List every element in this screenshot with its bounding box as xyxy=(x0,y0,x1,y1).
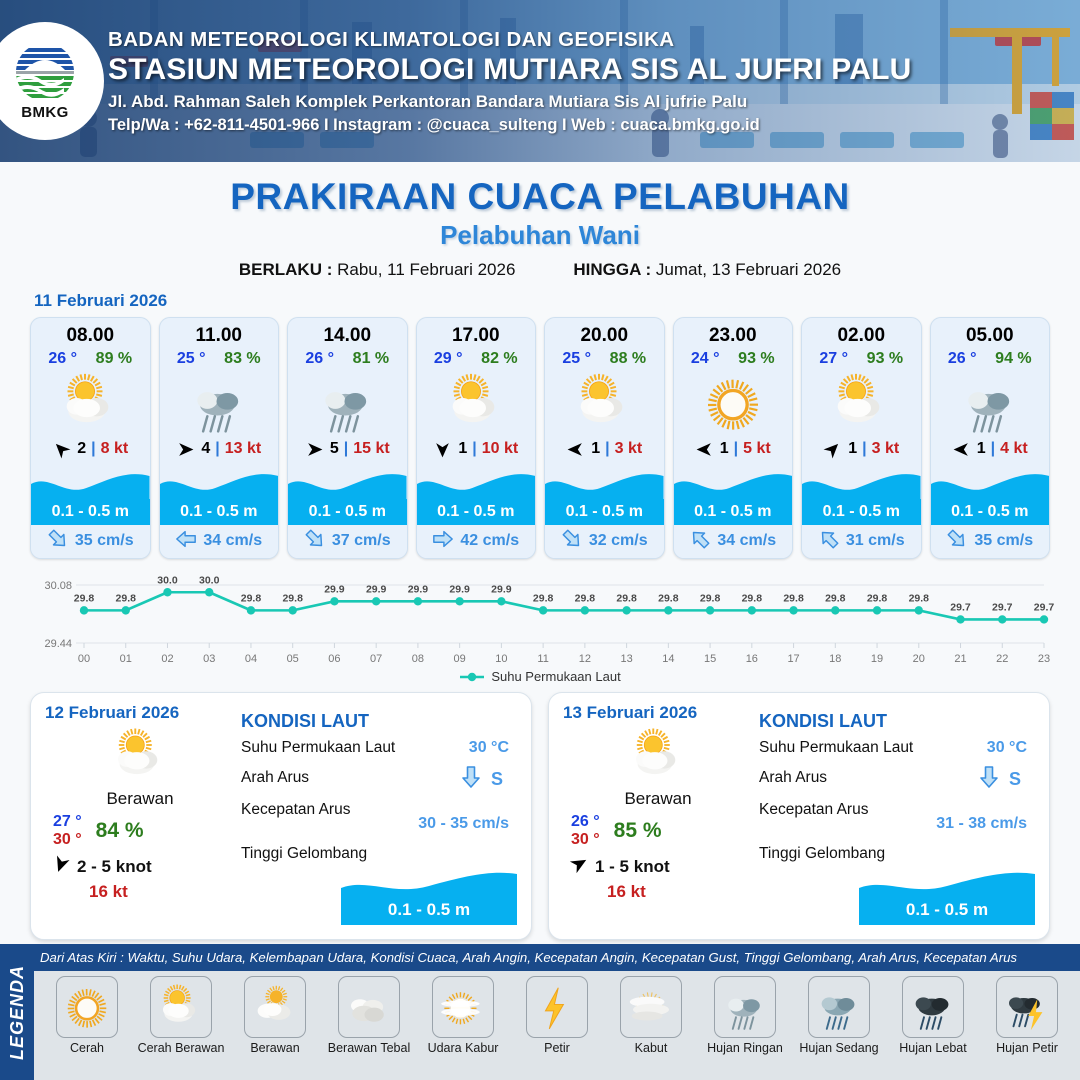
wind-row: 1 | 10 kt xyxy=(417,440,536,458)
legend-icon-box xyxy=(432,976,494,1038)
humidity: 88 % xyxy=(610,350,646,368)
wind-gust: 10 kt xyxy=(482,440,518,458)
svg-text:29.7: 29.7 xyxy=(992,601,1013,613)
svg-text:29.9: 29.9 xyxy=(366,583,387,595)
hourly-forecast-card: 11.00 25 ° 83 % 4 | 13 kt 0.1 - 0.5 m xyxy=(159,317,280,559)
current-direction-icon xyxy=(304,528,326,555)
legend-icon-box xyxy=(244,976,306,1038)
wind-direction-icon xyxy=(433,440,453,458)
wave-height-band: 0.1 - 0.5 m xyxy=(802,499,921,525)
svg-text:29.8: 29.8 xyxy=(700,592,721,604)
wind-row: 1 | 3 kt xyxy=(545,440,664,458)
daily-wind-gust: 16 kt xyxy=(563,882,753,902)
svg-text:29.8: 29.8 xyxy=(783,592,804,604)
forecast-time: 05.00 xyxy=(931,325,1050,347)
wind-direction-arrow-icon xyxy=(305,440,324,459)
legend-item: Hujan Sedang xyxy=(792,976,886,1055)
daily-weather-icon xyxy=(45,725,235,787)
wind-row: 1 | 5 kt xyxy=(674,440,793,458)
svg-text:29.8: 29.8 xyxy=(867,592,888,604)
current-row: 34 cm/s xyxy=(160,524,279,558)
wind-separator: | xyxy=(344,440,348,458)
wave-height: 0.1 - 0.5 m xyxy=(180,503,257,521)
svg-text:07: 07 xyxy=(370,653,382,665)
svg-text:30.0: 30.0 xyxy=(157,574,178,586)
wind-direction-icon xyxy=(566,440,586,458)
current-row: 35 cm/s xyxy=(931,524,1050,558)
temp-humidity-row: 24 ° 93 % xyxy=(674,350,793,368)
wind-speed: 1 xyxy=(720,440,729,458)
daily-left-column: 12 Februari 2026 Berawan 27 ° 30 ° 84 % … xyxy=(45,703,235,929)
humidity: 83 % xyxy=(224,350,260,368)
current-row: 35 cm/s xyxy=(31,524,150,558)
weather-condition-icon xyxy=(417,370,536,436)
svg-text:21: 21 xyxy=(954,653,966,665)
weather-icon-sunny xyxy=(60,980,114,1034)
wind-separator: | xyxy=(991,440,995,458)
legend-icon-box xyxy=(526,976,588,1038)
svg-text:16: 16 xyxy=(746,653,758,665)
legend-icon-box xyxy=(714,976,776,1038)
wind-separator: | xyxy=(734,440,738,458)
legend-item-label: Udara Kabur xyxy=(428,1041,499,1055)
wind-speed: 1 xyxy=(977,440,986,458)
air-temperature: 27 ° xyxy=(819,350,848,368)
svg-text:29.8: 29.8 xyxy=(74,592,95,604)
wave-height-row: Tinggi Gelombang xyxy=(241,845,517,863)
forecast-time: 08.00 xyxy=(31,325,150,347)
legend-item-label: Hujan Sedang xyxy=(799,1041,878,1055)
temp-humidity-row: 25 ° 83 % xyxy=(160,350,279,368)
current-row: 34 cm/s xyxy=(674,524,793,558)
current-direction-icon xyxy=(818,528,840,555)
forecast-time: 20.00 xyxy=(545,325,664,347)
legend-item: Cerah xyxy=(40,976,134,1055)
wind-gust: 5 kt xyxy=(743,440,771,458)
wind-separator: | xyxy=(215,440,219,458)
svg-text:29.44: 29.44 xyxy=(44,638,72,650)
current-direction-value-group: S xyxy=(977,765,1021,794)
svg-text:23: 23 xyxy=(1038,653,1050,665)
legend-item-label: Hujan Ringan xyxy=(707,1041,783,1055)
temp-humidity-row: 26 ° 89 % xyxy=(31,350,150,368)
agency-name: BADAN METEOROLOGI KLIMATOLOGI DAN GEOFIS… xyxy=(108,28,911,52)
temp-humidity-row: 29 ° 82 % xyxy=(417,350,536,368)
legend-item-label: Berawan Tebal xyxy=(328,1041,410,1055)
wind-direction-icon xyxy=(176,440,196,458)
air-temperature: 24 ° xyxy=(691,350,720,368)
legend-icon-box xyxy=(150,976,212,1038)
valid-from-value: Rabu, 11 Februari 2026 xyxy=(337,260,515,279)
weather-icon-rain-moderate xyxy=(812,980,866,1034)
current-direction-south-icon xyxy=(977,765,1001,794)
current-direction-label: Arah Arus xyxy=(759,769,827,787)
weather-icon-rain-light xyxy=(718,980,772,1034)
wave-height-block: 0.1 - 0.5 m xyxy=(31,470,150,524)
weather-condition-icon xyxy=(931,370,1050,436)
svg-text:06: 06 xyxy=(328,653,340,665)
wind-direction-arrow-icon xyxy=(569,854,589,874)
weather-condition-icon xyxy=(674,370,793,436)
bmkg-logo-icon xyxy=(12,41,78,103)
daily-humidity: 85 % xyxy=(614,819,662,843)
current-direction-arrow-icon xyxy=(689,528,711,550)
current-speed: 32 cm/s xyxy=(589,532,648,550)
wind-separator: | xyxy=(472,440,476,458)
legend-icon-box xyxy=(620,976,682,1038)
svg-text:30.08: 30.08 xyxy=(44,580,72,592)
svg-text:29.9: 29.9 xyxy=(408,583,429,595)
daily-forecast-panels: 12 Februari 2026 Berawan 27 ° 30 ° 84 % … xyxy=(0,684,1080,940)
svg-text:29.8: 29.8 xyxy=(241,592,262,604)
current-speed: 37 cm/s xyxy=(332,532,391,550)
sst-label: Suhu Permukaan Laut xyxy=(759,739,913,757)
wave-height-row: Tinggi Gelombang xyxy=(759,845,1035,863)
daily-forecast-panel: 13 Februari 2026 Berawan 26 ° 30 ° 85 % … xyxy=(548,692,1050,940)
legend-icon-box xyxy=(902,976,964,1038)
daily-wave-band: 0.1 - 0.5 m xyxy=(341,895,517,925)
svg-text:14: 14 xyxy=(662,653,674,665)
daily-date: 13 Februari 2026 xyxy=(563,703,753,723)
humidity: 93 % xyxy=(738,350,774,368)
weather-icon-thunderstorm xyxy=(1000,980,1054,1034)
svg-text:05: 05 xyxy=(287,653,299,665)
wave-height-band: 0.1 - 0.5 m xyxy=(931,499,1050,525)
current-direction-icon xyxy=(432,528,454,555)
wind-separator: | xyxy=(862,440,866,458)
current-speed-label: Kecepatan Arus xyxy=(759,801,868,819)
legend-item-label: Cerah Berawan xyxy=(138,1041,225,1055)
current-direction-arrow-icon xyxy=(175,528,197,550)
temp-humidity-row: 26 ° 81 % xyxy=(288,350,407,368)
wind-gust: 4 kt xyxy=(1000,440,1028,458)
wind-direction-arrow-icon xyxy=(823,440,842,459)
svg-text:13: 13 xyxy=(620,653,632,665)
current-row: 31 cm/s xyxy=(802,524,921,558)
wind-direction-arrow-icon xyxy=(566,440,585,459)
weather-icon-haze xyxy=(436,980,490,1034)
air-temperature: 29 ° xyxy=(434,350,463,368)
weather-icon-rain-light xyxy=(184,368,254,438)
daily-wave-block: 0.1 - 0.5 m xyxy=(341,870,517,925)
air-temperature: 25 ° xyxy=(177,350,206,368)
wind-speed: 1 xyxy=(848,440,857,458)
svg-text:02: 02 xyxy=(161,653,173,665)
station-contact: Telp/Wa : +62-811-4501-966 I Instagram :… xyxy=(108,116,911,135)
svg-text:10: 10 xyxy=(495,653,507,665)
weather-icon-lightning xyxy=(530,980,584,1034)
wave-height-label: Tinggi Gelombang xyxy=(759,845,885,863)
daily-temp-column: 27 ° 30 ° xyxy=(53,813,82,849)
legend-icon-box xyxy=(338,976,400,1038)
weather-condition-icon xyxy=(545,370,664,436)
svg-text:29.8: 29.8 xyxy=(282,592,303,604)
valid-to-value: Jumat, 13 Februari 2026 xyxy=(656,260,841,279)
current-direction-arrow-icon xyxy=(561,528,583,550)
wave-shape xyxy=(802,470,921,500)
svg-text:29.8: 29.8 xyxy=(116,592,137,604)
wave-height-band: 0.1 - 0.5 m xyxy=(288,499,407,525)
sst-chart: 30.0829.44000102030405060708091011121314… xyxy=(22,565,1058,673)
sea-condition-column: KONDISI LAUT Suhu Permukaan Laut 30 °C A… xyxy=(235,703,517,929)
legend-item: Hujan Petir xyxy=(980,976,1074,1055)
hourly-date-label: 11 Februari 2026 xyxy=(34,291,1080,311)
valid-from-label: BERLAKU : xyxy=(239,260,333,279)
valid-to-label: HINGGA : xyxy=(573,260,651,279)
wind-speed: 1 xyxy=(591,440,600,458)
forecast-time: 11.00 xyxy=(160,325,279,347)
svg-text:29.8: 29.8 xyxy=(616,592,637,604)
current-speed: 42 cm/s xyxy=(460,532,519,550)
wind-direction-icon xyxy=(823,440,843,458)
wind-direction-icon xyxy=(952,440,972,458)
air-temperature: 26 ° xyxy=(305,350,334,368)
wave-shape xyxy=(931,470,1050,500)
current-direction-label: Arah Arus xyxy=(241,769,309,787)
wave-height-label: Tinggi Gelombang xyxy=(241,845,367,863)
svg-text:18: 18 xyxy=(829,653,841,665)
wind-row: 2 | 8 kt xyxy=(31,440,150,458)
svg-text:29.7: 29.7 xyxy=(1034,601,1055,613)
daily-temp-humidity: 27 ° 30 ° 84 % xyxy=(45,813,235,849)
wave-height: 0.1 - 0.5 m xyxy=(823,503,900,521)
legend-icon-list: Cerah Cerah Berawan Berawan Berawan Teba… xyxy=(34,971,1080,1080)
forecast-time: 23.00 xyxy=(674,325,793,347)
svg-text:08: 08 xyxy=(412,653,424,665)
validity-row: BERLAKU : Rabu, 11 Februari 2026 HINGGA … xyxy=(0,260,1080,280)
wind-direction-arrow-icon xyxy=(52,440,71,459)
forecast-time: 02.00 xyxy=(802,325,921,347)
weather-icon-cloudy xyxy=(248,980,302,1034)
legend-item: Berawan Tebal xyxy=(322,976,416,1055)
svg-text:29.8: 29.8 xyxy=(658,592,679,604)
legend-item-label: Cerah xyxy=(70,1041,104,1055)
weather-icon-partly-cloudy xyxy=(625,723,691,789)
daily-temp-min: 27 ° xyxy=(53,813,82,831)
daily-temp-max: 30 ° xyxy=(571,831,600,849)
humidity: 94 % xyxy=(995,350,1031,368)
svg-text:30.0: 30.0 xyxy=(199,574,220,586)
weather-icon-partly-cloudy xyxy=(107,723,173,789)
forecast-time: 14.00 xyxy=(288,325,407,347)
wind-row: 1 | 3 kt xyxy=(802,440,921,458)
daily-wind-gust: 16 kt xyxy=(45,882,235,902)
current-direction-value-group: S xyxy=(459,765,503,794)
weather-icon-rain-light xyxy=(955,368,1025,438)
current-direction-south-icon xyxy=(459,765,483,794)
svg-text:29.8: 29.8 xyxy=(825,592,846,604)
daily-wind-direction-icon xyxy=(51,854,71,879)
hourly-forecast-card: 02.00 27 ° 93 % 1 | 3 kt 0.1 - 0.5 m xyxy=(801,317,922,559)
wave-height-block: 0.1 - 0.5 m xyxy=(417,470,536,524)
wind-row: 5 | 15 kt xyxy=(288,440,407,458)
svg-text:29.8: 29.8 xyxy=(742,592,763,604)
weather-icon-fog xyxy=(624,980,678,1034)
wind-direction-icon xyxy=(695,440,715,458)
svg-text:29.8: 29.8 xyxy=(909,592,930,604)
wave-shape xyxy=(31,470,150,500)
wind-gust: 3 kt xyxy=(615,440,643,458)
weather-icon-sunny xyxy=(698,368,768,438)
weather-icon-partly-cloudy xyxy=(826,368,896,438)
wave-height-block: 0.1 - 0.5 m xyxy=(674,470,793,524)
humidity: 81 % xyxy=(353,350,389,368)
daily-wave-shape xyxy=(341,870,517,896)
wind-speed: 4 xyxy=(201,440,210,458)
forecast-time: 17.00 xyxy=(417,325,536,347)
current-row: 32 cm/s xyxy=(545,524,664,558)
temp-humidity-row: 26 ° 94 % xyxy=(931,350,1050,368)
legend-item: Kabut xyxy=(604,976,698,1055)
wave-height: 0.1 - 0.5 m xyxy=(694,503,771,521)
wind-direction-icon xyxy=(305,440,325,458)
svg-text:11: 11 xyxy=(537,653,548,665)
humidity: 89 % xyxy=(96,350,132,368)
daily-wave-shape xyxy=(859,870,1035,896)
current-row: 42 cm/s xyxy=(417,524,536,558)
weather-condition-icon xyxy=(160,370,279,436)
hourly-forecast-card: 05.00 26 ° 94 % 1 | 4 kt 0.1 - 0.5 m xyxy=(930,317,1051,559)
daily-weather-icon xyxy=(563,725,753,787)
wind-direction-arrow-icon xyxy=(952,440,971,459)
weather-condition-icon xyxy=(802,370,921,436)
temp-humidity-row: 25 ° 88 % xyxy=(545,350,664,368)
current-direction-arrow-icon xyxy=(977,765,1001,789)
sea-condition-title: KONDISI LAUT xyxy=(241,711,517,732)
hourly-forecast-card: 20.00 25 ° 88 % 1 | 3 kt 0.1 - 0.5 m xyxy=(544,317,665,559)
svg-text:15: 15 xyxy=(704,653,716,665)
banner-text-block: BADAN METEOROLOGI KLIMATOLOGI DAN GEOFIS… xyxy=(108,28,911,135)
hourly-forecast-card: 08.00 26 ° 89 % 2 | 8 kt 0.1 - 0.5 m xyxy=(30,317,151,559)
wave-height-block: 0.1 - 0.5 m xyxy=(288,470,407,524)
wave-height: 0.1 - 0.5 m xyxy=(52,503,129,521)
daily-temp-column: 26 ° 30 ° xyxy=(571,813,600,849)
daily-wave-band: 0.1 - 0.5 m xyxy=(859,895,1035,925)
wind-gust: 8 kt xyxy=(101,440,129,458)
legend-item-label: Berawan xyxy=(250,1041,299,1055)
legend-item-label: Petir xyxy=(544,1041,570,1055)
svg-text:29.9: 29.9 xyxy=(324,583,345,595)
wind-gust: 3 kt xyxy=(872,440,900,458)
weather-icon-overcast xyxy=(342,980,396,1034)
wind-speed: 1 xyxy=(458,440,467,458)
svg-text:03: 03 xyxy=(203,653,215,665)
legend-icon-box xyxy=(56,976,118,1038)
air-temperature: 25 ° xyxy=(562,350,591,368)
current-direction-arrow-icon xyxy=(47,528,69,550)
svg-text:17: 17 xyxy=(787,653,799,665)
current-direction-value: S xyxy=(1009,769,1021,790)
weather-icon-rain-heavy xyxy=(906,980,960,1034)
current-direction-arrow-icon xyxy=(459,765,483,789)
temp-humidity-row: 27 ° 93 % xyxy=(802,350,921,368)
weather-icon-partly-cloudy xyxy=(55,368,125,438)
page-title: PRAKIRAAN CUACA PELABUHAN xyxy=(0,176,1080,218)
wind-row: 4 | 13 kt xyxy=(160,440,279,458)
legend-item: Cerah Berawan xyxy=(134,976,228,1055)
legend-item: Hujan Lebat xyxy=(886,976,980,1055)
valid-from: BERLAKU : Rabu, 11 Februari 2026 xyxy=(239,260,516,280)
wind-direction-icon xyxy=(52,440,72,458)
legend-tab-label: LEGENDA xyxy=(7,964,28,1059)
wave-height: 0.1 - 0.5 m xyxy=(566,503,643,521)
current-direction-arrow-icon xyxy=(818,528,840,550)
legend-section: LEGENDA Dari Atas Kiri : Waktu, Suhu Uda… xyxy=(0,944,1080,1080)
weather-icon-rain-light xyxy=(312,368,382,438)
wind-separator: | xyxy=(91,440,95,458)
current-speed: 34 cm/s xyxy=(203,532,262,550)
wave-height-band: 0.1 - 0.5 m xyxy=(31,499,150,525)
svg-text:20: 20 xyxy=(913,653,925,665)
svg-text:29.8: 29.8 xyxy=(533,592,554,604)
svg-text:29.8: 29.8 xyxy=(575,592,596,604)
wave-height-block: 0.1 - 0.5 m xyxy=(545,470,664,524)
wave-height: 0.1 - 0.5 m xyxy=(309,503,386,521)
wave-height-band: 0.1 - 0.5 m xyxy=(674,499,793,525)
daily-humidity: 84 % xyxy=(96,819,144,843)
current-direction-value: S xyxy=(491,769,503,790)
daily-wind-direction-icon xyxy=(569,854,589,879)
sea-condition-column: KONDISI LAUT Suhu Permukaan Laut 30 °C A… xyxy=(753,703,1035,929)
svg-text:01: 01 xyxy=(120,653,132,665)
current-direction-arrow-icon xyxy=(304,528,326,550)
current-speed: 34 cm/s xyxy=(717,532,776,550)
weather-condition-icon xyxy=(288,370,407,436)
wind-speed: 5 xyxy=(330,440,339,458)
page-header-banner: BMKG BADAN METEOROLOGI KLIMATOLOGI DAN G… xyxy=(0,0,1080,162)
weather-icon-partly-cloudy xyxy=(569,368,639,438)
daily-condition: Berawan xyxy=(45,789,235,809)
svg-text:00: 00 xyxy=(78,653,90,665)
daily-temp-max: 30 ° xyxy=(53,831,82,849)
station-address: Jl. Abd. Rahman Saleh Komplek Perkantora… xyxy=(108,92,911,112)
current-direction-icon xyxy=(946,528,968,555)
current-speed: 35 cm/s xyxy=(75,532,134,550)
daily-date: 12 Februari 2026 xyxy=(45,703,235,723)
page-subtitle: Pelabuhan Wani xyxy=(0,220,1080,251)
daily-condition: Berawan xyxy=(563,789,753,809)
station-name: STASIUN METEOROLOGI MUTIARA SIS AL JUFRI… xyxy=(108,53,911,87)
weather-icon-partly-cloudy xyxy=(154,980,208,1034)
legend-icon-box xyxy=(996,976,1058,1038)
legend-tab: LEGENDA xyxy=(0,944,34,1080)
daily-wave-value: 0.1 - 0.5 m xyxy=(906,900,988,920)
hourly-forecast-strip: 08.00 26 ° 89 % 2 | 8 kt 0.1 - 0.5 m xyxy=(0,311,1080,559)
current-direction-icon xyxy=(175,528,197,555)
valid-to: HINGGA : Jumat, 13 Februari 2026 xyxy=(573,260,841,280)
legend-item-label: Hujan Petir xyxy=(996,1041,1058,1055)
legend-item: Berawan xyxy=(228,976,322,1055)
wave-shape xyxy=(417,470,536,500)
legend-item-label: Kabut xyxy=(635,1041,668,1055)
svg-text:09: 09 xyxy=(454,653,466,665)
wave-shape xyxy=(160,470,279,500)
daily-wave-block: 0.1 - 0.5 m xyxy=(859,870,1035,925)
wave-height-block: 0.1 - 0.5 m xyxy=(802,470,921,524)
wave-height-block: 0.1 - 0.5 m xyxy=(931,470,1050,524)
current-row: 37 cm/s xyxy=(288,524,407,558)
daily-wind-speed: 1 - 5 knot xyxy=(595,857,670,877)
daily-temp-humidity: 26 ° 30 ° 85 % xyxy=(563,813,753,849)
current-direction-icon xyxy=(689,528,711,555)
wind-row: 1 | 4 kt xyxy=(931,440,1050,458)
humidity: 82 % xyxy=(481,350,517,368)
svg-text:19: 19 xyxy=(871,653,883,665)
wind-direction-arrow-icon xyxy=(176,440,195,459)
humidity: 93 % xyxy=(867,350,903,368)
daily-wave-value: 0.1 - 0.5 m xyxy=(388,900,470,920)
wave-shape xyxy=(674,470,793,500)
